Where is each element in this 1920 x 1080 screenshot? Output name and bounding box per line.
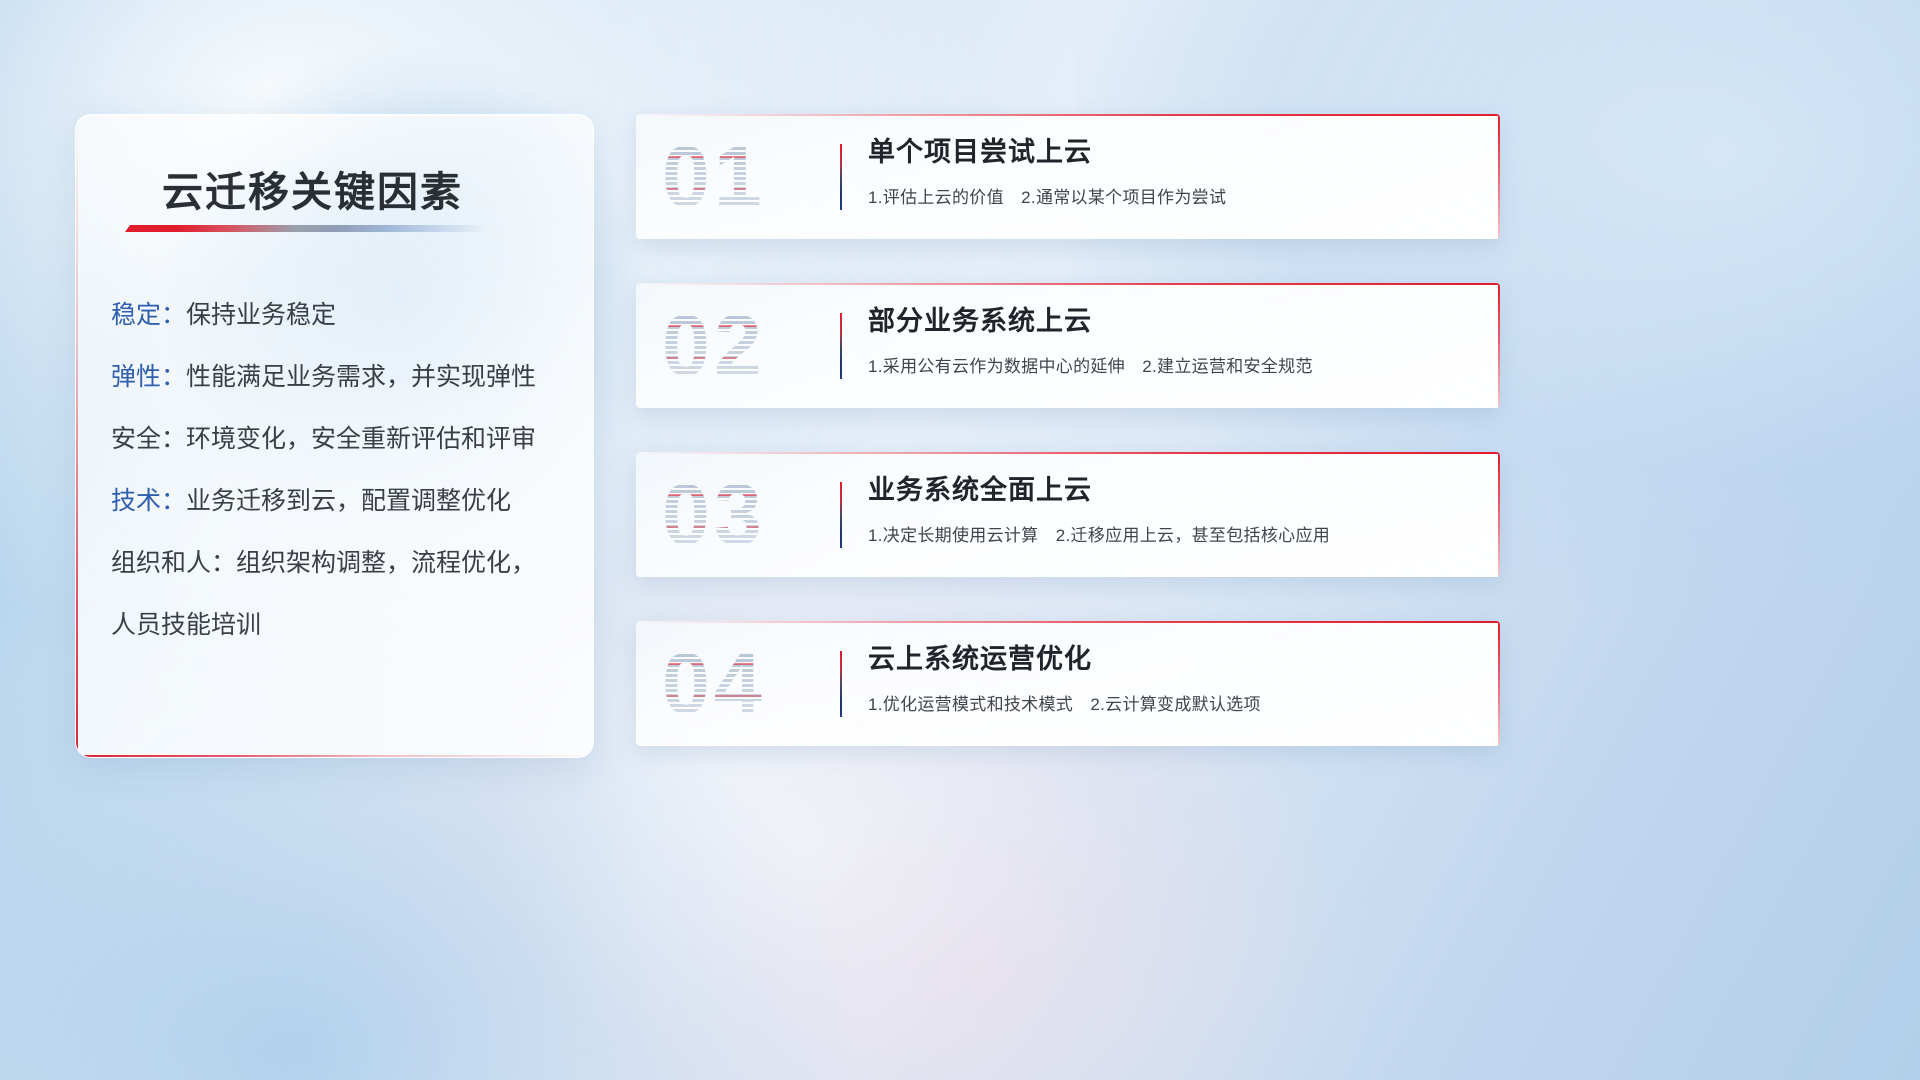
list-item-text: 保持业务稳定 xyxy=(186,303,336,328)
list-item-label: 组织和人： xyxy=(111,551,236,576)
step-title: 业务系统全面上云 xyxy=(868,474,1476,506)
card-top-accent-line xyxy=(636,114,1500,116)
step-number-watermark: 02 xyxy=(662,299,840,394)
step-title: 单个项目尝试上云 xyxy=(868,136,1476,168)
card-top-accent-line xyxy=(636,452,1500,454)
step-card-04[interactable]: 04 04 云上系统运营优化 1.优化运营模式和技术模式 2.云计算变成默认选项 xyxy=(636,621,1500,746)
title-underline-rule xyxy=(125,225,487,232)
step-subtitle: 1.采用公有云作为数据中心的延伸 2.建立运营和安全规范 xyxy=(868,352,1476,377)
step-content: 云上系统运营优化 1.优化运营模式和技术模式 2.云计算变成默认选项 xyxy=(868,643,1476,715)
step-divider-line xyxy=(840,313,842,379)
step-number-watermark: 03 xyxy=(662,468,840,563)
step-number-watermark: 01 xyxy=(662,130,840,225)
migration-steps-list: 01 01 单个项目尝试上云 1.评估上云的价值 2.通常以某个项目作为尝试 0… xyxy=(636,114,1500,754)
list-item: 组织和人： 组织架构调整，流程优化， xyxy=(111,551,581,613)
list-item: 安全： 环境变化，安全重新评估和评审 xyxy=(111,427,581,489)
step-divider-line xyxy=(840,482,842,548)
list-item-label: 稳定： xyxy=(111,303,186,328)
card-top-accent-line xyxy=(636,621,1500,623)
card-right-accent-line xyxy=(1498,114,1500,239)
key-factors-card: 云迁移关键因素 稳定： 保持业务稳定 弹性： 性能满足业务需求，并实现弹性 安全… xyxy=(75,114,594,758)
list-item: 稳定： 保持业务稳定 xyxy=(111,303,581,365)
step-card-03[interactable]: 03 03 业务系统全面上云 1.决定长期使用云计算 2.迁移应用上云，甚至包括… xyxy=(636,452,1500,577)
list-item-text: 业务迁移到云，配置调整优化 xyxy=(186,489,511,514)
step-content: 部分业务系统上云 1.采用公有云作为数据中心的延伸 2.建立运营和安全规范 xyxy=(868,305,1476,377)
card-right-accent-line xyxy=(1498,283,1500,408)
page-title: 云迁移关键因素 xyxy=(162,158,463,218)
step-card-02[interactable]: 02 02 部分业务系统上云 1.采用公有云作为数据中心的延伸 2.建立运营和安… xyxy=(636,283,1500,408)
step-number-watermark: 04 xyxy=(662,637,840,732)
step-subtitle: 1.优化运营模式和技术模式 2.云计算变成默认选项 xyxy=(868,690,1476,715)
step-content: 业务系统全面上云 1.决定长期使用云计算 2.迁移应用上云，甚至包括核心应用 xyxy=(868,474,1476,546)
list-item: 技术： 业务迁移到云，配置调整优化 xyxy=(111,489,581,551)
list-item-label: 安全： xyxy=(111,427,186,452)
key-factors-list: 稳定： 保持业务稳定 弹性： 性能满足业务需求，并实现弹性 安全： 环境变化，安… xyxy=(111,303,581,675)
step-title: 部分业务系统上云 xyxy=(868,305,1476,337)
list-item-text: 性能满足业务需求，并实现弹性 xyxy=(186,365,536,390)
step-divider-line xyxy=(840,651,842,717)
list-item-text: 环境变化，安全重新评估和评审 xyxy=(186,427,536,452)
step-card-01[interactable]: 01 01 单个项目尝试上云 1.评估上云的价值 2.通常以某个项目作为尝试 xyxy=(636,114,1500,239)
step-subtitle: 1.决定长期使用云计算 2.迁移应用上云，甚至包括核心应用 xyxy=(868,521,1476,546)
card-right-accent-line xyxy=(1498,452,1500,577)
card-right-accent-line xyxy=(1498,621,1500,746)
list-item-label: 技术： xyxy=(111,489,186,514)
step-subtitle: 1.评估上云的价值 2.通常以某个项目作为尝试 xyxy=(868,183,1476,208)
list-item: 弹性： 性能满足业务需求，并实现弹性 xyxy=(111,365,581,427)
list-item-text: 组织架构调整，流程优化， xyxy=(236,551,536,576)
card-top-accent-line xyxy=(636,283,1500,285)
step-divider-line xyxy=(840,144,842,210)
list-item: 人员技能培训 xyxy=(111,613,581,675)
step-title: 云上系统运营优化 xyxy=(868,643,1476,675)
step-content: 单个项目尝试上云 1.评估上云的价值 2.通常以某个项目作为尝试 xyxy=(868,136,1476,208)
list-item-text: 人员技能培训 xyxy=(111,613,261,638)
list-item-label: 弹性： xyxy=(111,365,186,390)
